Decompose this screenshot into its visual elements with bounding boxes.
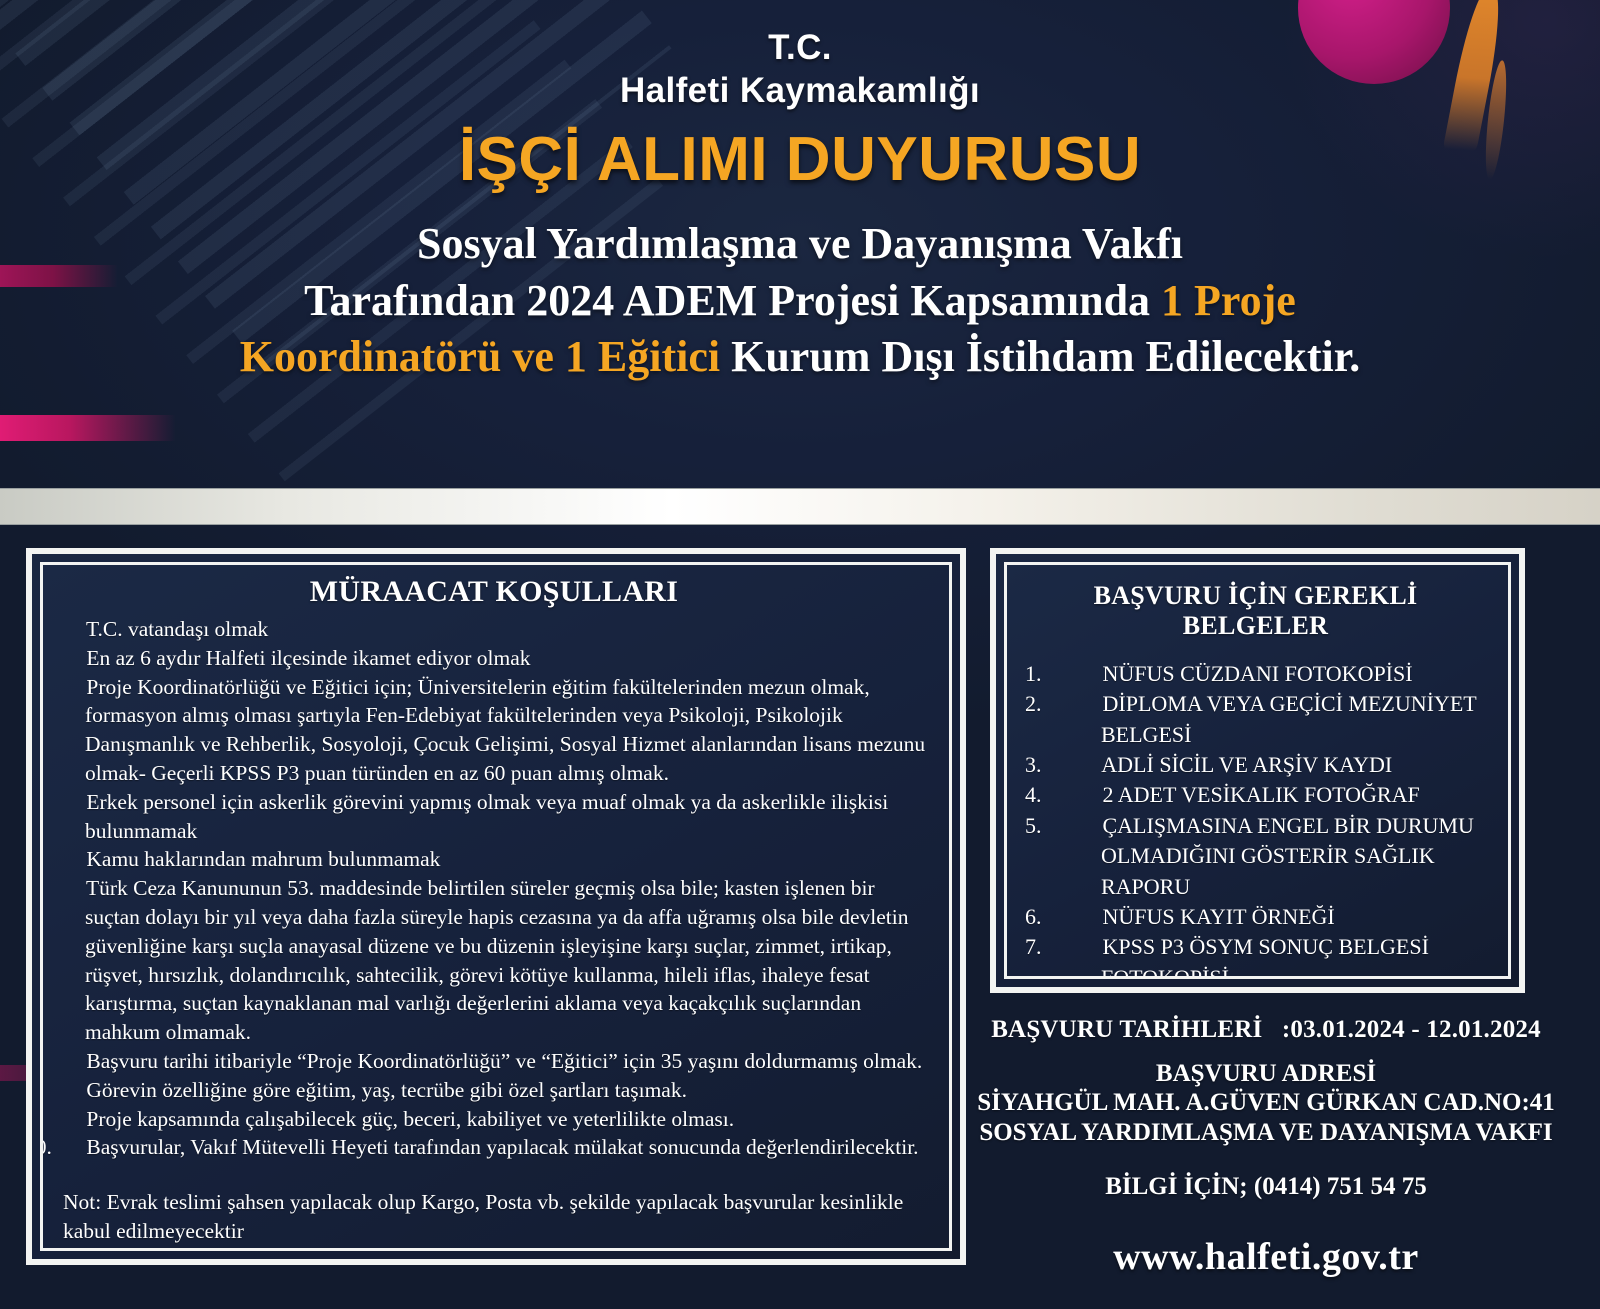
document-item-number: 2. <box>1063 689 1097 719</box>
required-documents-panel-inner: BAŞVURU İÇİN GEREKLİ BELGELER 1. NÜFUS C… <box>1004 562 1511 979</box>
document-item-number: 1. <box>1063 659 1097 689</box>
subtitle-line-3-highlight: Koordinatörü ve 1 Eğitici <box>240 332 720 381</box>
condition-item-number: 7. <box>55 1047 81 1076</box>
document-item-text: NÜFUS CÜZDANI FOTOKOPİSİ <box>1097 661 1413 686</box>
document-item-text: DİPLOMA VEYA GEÇİCİ MEZUNİYET BELGESİ <box>1097 691 1476 746</box>
condition-item-text: Proje Koordinatörlüğü ve Eğitici için; Ü… <box>81 675 925 785</box>
subtitle-line-2: Tarafından 2024 ADEM Projesi Kapsamında … <box>18 273 1582 329</box>
application-conditions-list: 1. T.C. vatandaşı olmak2. En az 6 aydır … <box>55 615 933 1162</box>
subtitle-line-2-highlight: 1 Proje <box>1161 276 1296 325</box>
document-item: 2. DİPLOMA VEYA GEÇİCİ MEZUNİYET BELGESİ <box>1063 689 1492 750</box>
poster-content: MÜRAACAT KOŞULLARI 1. T.C. vatandaşı olm… <box>0 548 1600 1308</box>
application-note: Not: Evrak teslimi şahsen yapılacak olup… <box>55 1188 933 1246</box>
required-documents-panel: BAŞVURU İÇİN GEREKLİ BELGELER 1. NÜFUS C… <box>990 548 1525 993</box>
required-documents-title: BAŞVURU İÇİN GEREKLİ BELGELER <box>1019 581 1492 641</box>
document-item: 7. KPSS P3 ÖSYM SONUÇ BELGESİ FOTOKOPİSİ <box>1063 932 1492 979</box>
condition-item-text: Başvurular, Vakıf Mütevelli Heyeti taraf… <box>81 1135 919 1159</box>
website-url[interactable]: www.halfeti.gov.tr <box>966 1235 1566 1279</box>
announcement-subtitle: Sosyal Yardımlaşma ve Dayanışma Vakfı Ta… <box>0 216 1600 385</box>
address-line-2: SOSYAL YARDIMLAŞMA VE DAYANIŞMA VAKFI <box>966 1118 1566 1148</box>
document-item-text: NÜFUS KAYIT ÖRNEĞİ <box>1097 904 1335 929</box>
document-item-number: 4. <box>1063 780 1097 810</box>
poster-root: T.C. Halfeti Kaymakamlığı İŞÇİ ALIMI DUY… <box>0 0 1600 1309</box>
condition-item-text: Türk Ceza Kanununun 53. maddesinde belir… <box>81 876 908 1044</box>
condition-item: 4. Erkek personel için askerlik görevini… <box>55 788 933 846</box>
condition-item-number: 4. <box>55 788 81 817</box>
condition-item-number: 8. <box>55 1076 81 1105</box>
document-item-number: 6. <box>1063 902 1097 932</box>
condition-item: 5. Kamu haklarından mahrum bulunmamak <box>55 845 933 874</box>
document-item-number: 7. <box>1063 932 1097 962</box>
condition-item-text: En az 6 aydır Halfeti ilçesinde ikamet e… <box>81 646 531 670</box>
institution-line-1: T.C. <box>0 26 1600 69</box>
condition-item-number: 1. <box>55 615 81 644</box>
light-separator-band <box>0 488 1600 525</box>
application-conditions-title: MÜRAACAT KOŞULLARI <box>55 575 933 609</box>
application-conditions-panel-inner: MÜRAACAT KOŞULLARI 1. T.C. vatandaşı olm… <box>40 562 952 1251</box>
subtitle-line-3-text: Kurum Dışı İstihdam Edilecektir. <box>720 332 1360 381</box>
condition-item: 2. En az 6 aydır Halfeti ilçesinde ikame… <box>55 644 933 673</box>
condition-item-number: 5. <box>55 845 81 874</box>
condition-item-text: T.C. vatandaşı olmak <box>81 617 268 641</box>
condition-item: 9. Proje kapsamında çalışabilecek güç, b… <box>55 1105 933 1134</box>
document-item-text: ADLİ SİCİL VE ARŞİV KAYDI <box>1097 752 1392 777</box>
condition-item: 10. Başvurular, Vakıf Mütevelli Heyeti t… <box>55 1133 933 1162</box>
address-title: BAŞVURU ADRESİ <box>966 1060 1566 1088</box>
document-item-number: 3. <box>1063 750 1097 780</box>
condition-item: 6. Türk Ceza Kanununun 53. maddesinde be… <box>55 874 933 1047</box>
condition-item-number: 10. <box>55 1133 81 1162</box>
institution-line-2: Halfeti Kaymakamlığı <box>0 69 1600 112</box>
document-item-text: KPSS P3 ÖSYM SONUÇ BELGESİ FOTOKOPİSİ <box>1097 934 1429 979</box>
condition-item-number: 6. <box>55 874 81 903</box>
condition-item-number: 9. <box>55 1105 81 1134</box>
condition-item: 8. Görevin özelliğine göre eğitim, yaş, … <box>55 1076 933 1105</box>
announcement-headline: İŞÇİ ALIMI DUYURUSU <box>0 126 1600 194</box>
document-item-text: ÇALIŞMASINA ENGEL BİR DURUMU OLMADIĞINI … <box>1097 813 1474 899</box>
condition-item-text: Proje kapsamında çalışabilecek güç, bece… <box>81 1107 734 1131</box>
magenta-bar-decoration-middle <box>0 415 176 441</box>
required-documents-list: 1. NÜFUS CÜZDANI FOTOKOPİSİ2. DİPLOMA VE… <box>1019 659 1492 979</box>
document-item-number: 5. <box>1063 811 1097 841</box>
document-item-text: 2 ADET VESİKALIK FOTOĞRAF <box>1097 782 1420 807</box>
condition-item-number: 2. <box>55 644 81 673</box>
subtitle-line-1: Sosyal Yardımlaşma ve Dayanışma Vakfı <box>18 216 1582 272</box>
condition-item: 7. Başvuru tarihi itibariyle “Proje Koor… <box>55 1047 933 1076</box>
application-conditions-panel: MÜRAACAT KOŞULLARI 1. T.C. vatandaşı olm… <box>26 548 966 1265</box>
document-item: 5. ÇALIŞMASINA ENGEL BİR DURUMU OLMADIĞI… <box>1063 811 1492 902</box>
subtitle-line-3: Koordinatörü ve 1 Eğitici Kurum Dışı İst… <box>18 329 1582 385</box>
poster-header: T.C. Halfeti Kaymakamlığı İŞÇİ ALIMI DUY… <box>0 0 1600 194</box>
application-dates-label: BAŞVURU TARİHLERİ <box>991 1016 1262 1043</box>
contact-phone: BİLGİ İÇİN; (0414) 751 54 75 <box>966 1173 1566 1201</box>
contact-block: BAŞVURU TARİHLERİ :03.01.2024 - 12.01.20… <box>966 1016 1566 1279</box>
document-item: 4. 2 ADET VESİKALIK FOTOĞRAF <box>1063 780 1492 810</box>
condition-item-text: Başvuru tarihi itibariyle “Proje Koordin… <box>81 1049 922 1073</box>
subtitle-line-2-text: Tarafından 2024 ADEM Projesi Kapsamında <box>304 276 1161 325</box>
condition-item-number: 3. <box>55 673 81 702</box>
document-item: 3. ADLİ SİCİL VE ARŞİV KAYDI <box>1063 750 1492 780</box>
address-line-1: SİYAHGÜL MAH. A.GÜVEN GÜRKAN CAD.NO:41 <box>966 1088 1566 1118</box>
condition-item-text: Kamu haklarından mahrum bulunmamak <box>81 847 440 871</box>
application-dates: BAŞVURU TARİHLERİ :03.01.2024 - 12.01.20… <box>966 1016 1566 1044</box>
condition-item: 1. T.C. vatandaşı olmak <box>55 615 933 644</box>
application-dates-value: :03.01.2024 - 12.01.2024 <box>1282 1016 1541 1043</box>
document-item: 1. NÜFUS CÜZDANI FOTOKOPİSİ <box>1063 659 1492 689</box>
condition-item: 3. Proje Koordinatörlüğü ve Eğitici için… <box>55 673 933 788</box>
document-item: 6. NÜFUS KAYIT ÖRNEĞİ <box>1063 902 1492 932</box>
condition-item-text: Görevin özelliğine göre eğitim, yaş, tec… <box>81 1078 687 1102</box>
condition-item-text: Erkek personel için askerlik görevini ya… <box>81 790 888 843</box>
